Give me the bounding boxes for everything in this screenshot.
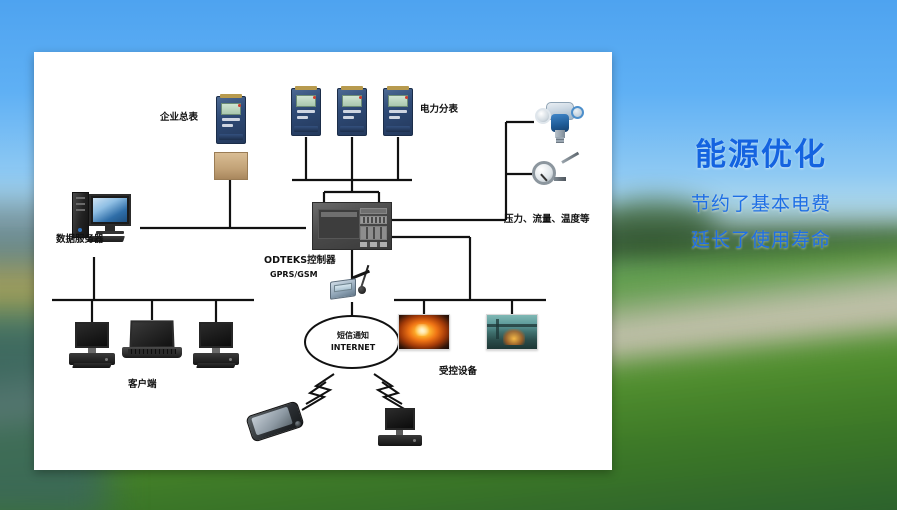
controller-keypad [360, 226, 387, 240]
gauge-face [532, 161, 556, 185]
meter-cap [220, 94, 242, 98]
meter-mounting-board [214, 152, 248, 180]
meter-terminal-base [386, 126, 410, 132]
remote-pc-device [378, 408, 422, 448]
server-power-icon [78, 228, 82, 232]
plant-beam [487, 324, 537, 327]
pressure-gauge-device [532, 159, 582, 191]
equipment-photo-plant [486, 314, 538, 350]
meter-led-icon [238, 104, 241, 107]
controller-display [318, 209, 360, 239]
electric-meter-main [216, 96, 246, 144]
meter-cap [387, 86, 409, 90]
laptop-keyboard [128, 349, 176, 354]
laptop-lid [129, 320, 174, 348]
electric-meter-sub-1 [291, 88, 321, 136]
slide-canvas: 能源优化 节约了基本电费 延长了使用寿命 [0, 0, 897, 510]
meter-led-icon [359, 96, 362, 99]
controller-terminal-block [360, 216, 387, 224]
gauge-stem [554, 177, 566, 181]
transmitter-dial-left [535, 108, 551, 124]
client-terminal-2 [193, 322, 239, 370]
electric-meter-sub-3 [383, 88, 413, 136]
controlled-equipment-label: 受控设备 [439, 366, 477, 378]
client-keyboard [72, 363, 112, 368]
controller-buttons [360, 242, 387, 247]
controller-display-title [321, 212, 357, 217]
sub-meter-label: 电力分表 [420, 104, 458, 116]
client-terminal-laptop [122, 320, 182, 362]
internet-ellipse [305, 316, 399, 368]
furnace-flame [413, 324, 431, 336]
equipment-photo-furnace [398, 314, 450, 350]
server-tower [72, 192, 89, 238]
client-monitor [75, 322, 109, 348]
client-screen [77, 324, 107, 346]
meter-bar [389, 116, 400, 119]
controller-status-strip [360, 208, 387, 214]
server-monitor-screen [93, 198, 127, 222]
power-dot-icon [413, 439, 416, 442]
diagram-panel: 企业总表 [34, 52, 612, 470]
clients-label: 客户端 [128, 379, 157, 391]
headline-title: 能源优化 [630, 138, 892, 172]
meter-cap [295, 86, 317, 90]
internet-line-1: 短信通知 [325, 331, 381, 341]
laptop-base [122, 347, 182, 358]
plant-flame [503, 329, 525, 345]
client-screen [201, 324, 231, 346]
data-server-label: 数据服务器 [56, 234, 104, 246]
remote-pc-monitor [385, 408, 415, 430]
remote-pc-screen [387, 410, 413, 428]
pressure-transmitter-device [534, 100, 586, 144]
power-dot-icon [229, 358, 232, 361]
meter-bar [297, 110, 315, 113]
modem-lcd [334, 283, 352, 293]
gsm-modem-device [330, 264, 386, 304]
client-monitor [199, 322, 233, 348]
modem-body [330, 278, 356, 300]
server-slot [76, 203, 85, 205]
gprs-gsm-label: GPRS/GSM [270, 270, 318, 280]
antenna-icon [360, 265, 369, 288]
transmitter-dial-right [571, 106, 584, 119]
transmitter-thread [556, 137, 564, 143]
power-dot-icon [105, 358, 108, 361]
meter-led-icon [405, 96, 408, 99]
phone-lens-icon [295, 421, 301, 427]
meter-led-icon [313, 96, 316, 99]
diagram-canvas: 企业总表 [34, 52, 612, 470]
meter-bar [343, 116, 354, 119]
meter-bar [389, 110, 407, 113]
meter-bar [297, 116, 308, 119]
controller-device [312, 202, 392, 250]
meter-terminal-base [219, 134, 243, 140]
modem-knob [358, 286, 366, 294]
main-meter-device [214, 96, 248, 180]
remote-pc-box [378, 435, 422, 446]
sensors-label: 压力、流量、温度等 [504, 214, 590, 226]
meter-bar [343, 110, 361, 113]
server-slot [76, 209, 85, 211]
main-meter-label: 企业总表 [160, 112, 198, 124]
electric-meter-sub-2 [337, 88, 367, 136]
meter-bar [222, 124, 233, 127]
benefit-line-1: 节约了基本电费 [630, 194, 892, 216]
controller-label: ODTEKS控制器 [264, 255, 336, 267]
benefit-line-2: 延长了使用寿命 [630, 230, 892, 252]
text-panel: 能源优化 节约了基本电费 延长了使用寿命 [630, 138, 892, 252]
server-monitor [89, 194, 131, 226]
meter-bar [222, 118, 240, 121]
client-keyboard [196, 363, 236, 368]
meter-terminal-base [340, 126, 364, 132]
meter-terminal-base [294, 126, 318, 132]
controller-right-panel [360, 208, 387, 245]
meter-cap [341, 86, 363, 90]
server-slot [76, 197, 85, 199]
client-terminal-1 [69, 322, 115, 370]
gauge-needle [540, 174, 547, 182]
internet-line-2: INTERNET [325, 343, 381, 353]
smartphone-device [248, 408, 304, 442]
plant-pole [496, 319, 499, 339]
